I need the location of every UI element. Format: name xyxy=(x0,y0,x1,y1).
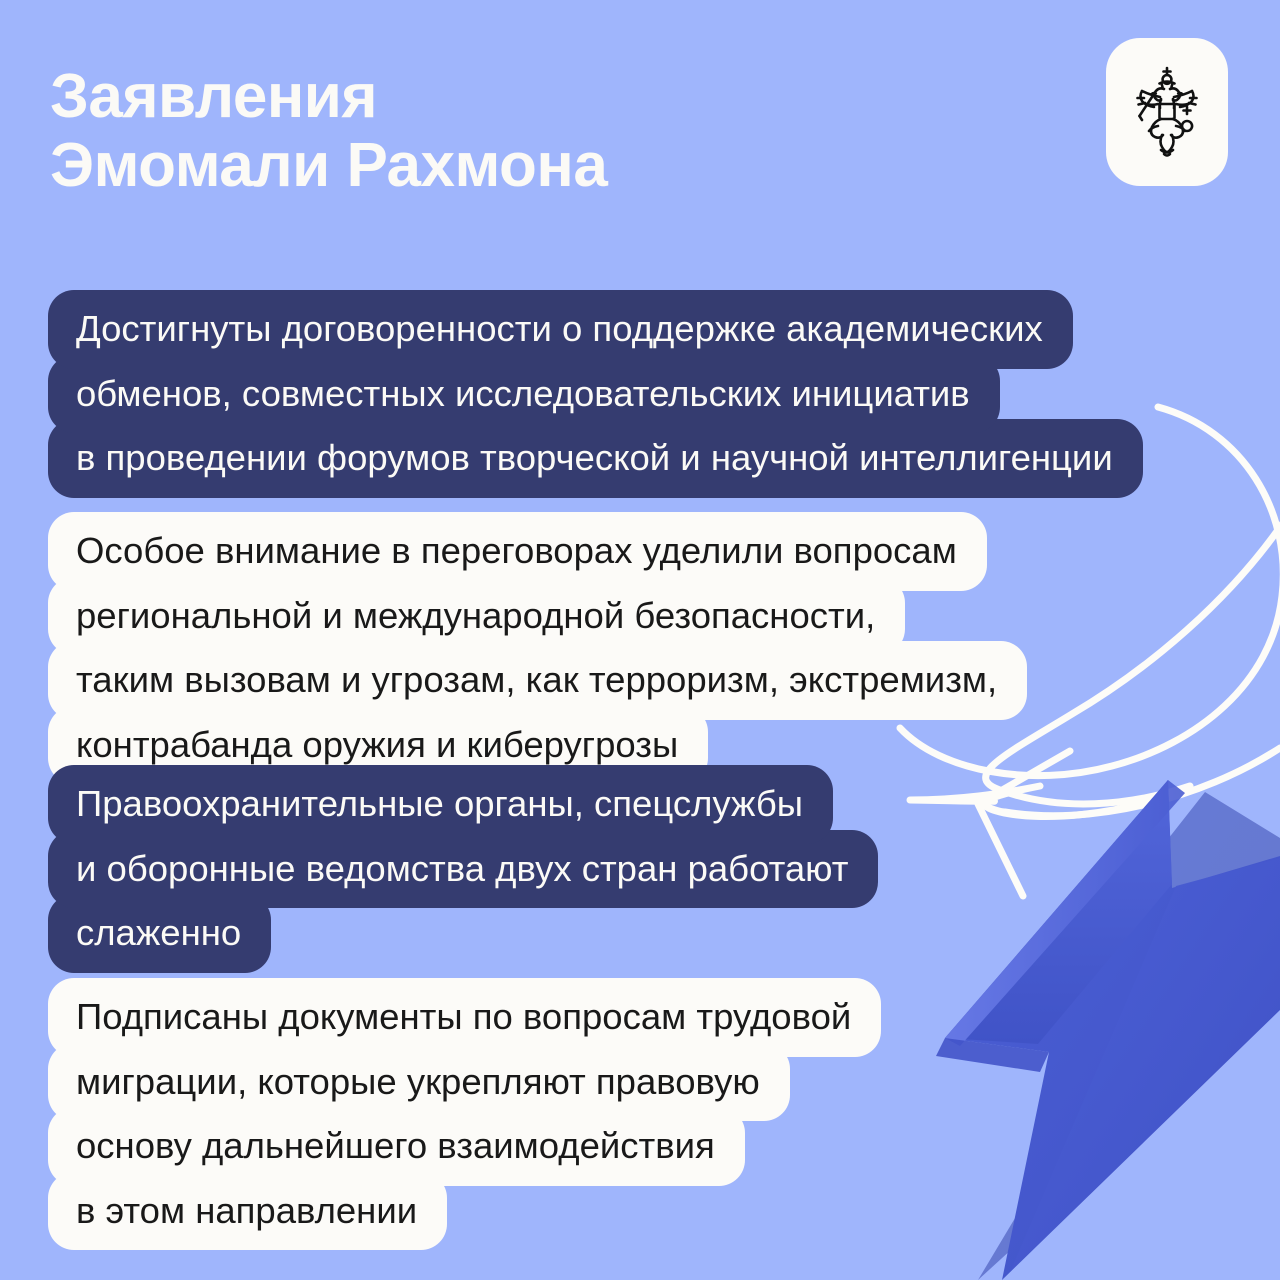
statement-card: Особое внимание в переговорах уделили во… xyxy=(48,512,1027,784)
statement-line: Особое внимание в переговорах уделили во… xyxy=(48,512,987,591)
statement-line: Достигнуты договоренности о поддержке ак… xyxy=(48,290,1073,369)
statement-card: Достигнуты договоренности о поддержке ак… xyxy=(48,290,1143,498)
statement-card: Правоохранительные органы, спецслужбыи о… xyxy=(48,765,878,973)
infographic-canvas: Заявления Эмомали Рахмона xyxy=(0,0,1280,1280)
double-headed-eagle-icon xyxy=(1128,64,1206,160)
statement-card: Подписаны документы по вопросам трудовой… xyxy=(48,978,881,1250)
statement-line: Подписаны документы по вопросам трудовой xyxy=(48,978,881,1057)
statement-line: Правоохранительные органы, спецслужбы xyxy=(48,765,833,844)
header: Заявления Эмомали Рахмона xyxy=(0,0,1280,270)
logo-badge[interactable] xyxy=(1106,38,1228,186)
page-title: Заявления Эмомали Рахмона xyxy=(50,62,1050,201)
lightning-bolt-icon xyxy=(936,780,1280,1280)
